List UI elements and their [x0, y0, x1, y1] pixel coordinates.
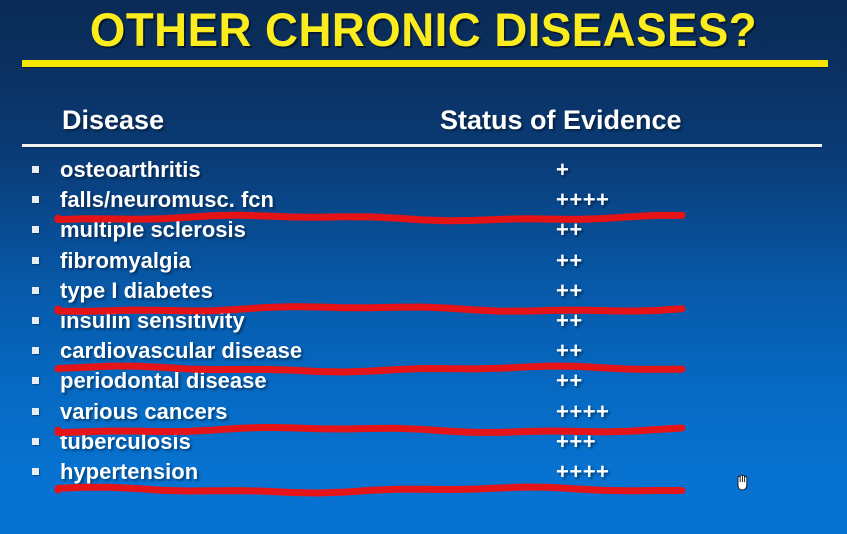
- bullet-square-icon: [32, 468, 39, 475]
- table-header: Disease Status of Evidence: [0, 104, 847, 144]
- disease-name: tuberculosis: [60, 427, 191, 456]
- disease-name: insulin sensitivity: [60, 306, 245, 335]
- evidence-rating: ++++: [556, 457, 609, 486]
- evidence-rating: ++: [556, 215, 583, 244]
- bullet-square-icon: [32, 257, 39, 264]
- bullet-square-icon: [32, 287, 39, 294]
- column-header-disease: Disease: [62, 104, 164, 136]
- disease-name: type I diabetes: [60, 276, 213, 305]
- disease-name: various cancers: [60, 397, 228, 426]
- bullet-square-icon: [32, 226, 39, 233]
- bullet-square-icon: [32, 196, 39, 203]
- header-divider-rule: [22, 144, 822, 147]
- table-row: multiple sclerosis++: [0, 215, 847, 245]
- evidence-rating: ++: [556, 246, 583, 275]
- bullet-square-icon: [32, 347, 39, 354]
- disease-name: cardiovascular disease: [60, 336, 302, 365]
- disease-name: falls/neuromusc. fcn: [60, 185, 274, 214]
- table-row: periodontal disease++: [0, 366, 847, 396]
- evidence-rating: +: [556, 155, 569, 184]
- slide-canvas: OTHER CHRONIC DISEASES? Disease Status o…: [0, 0, 847, 534]
- disease-name: hypertension: [60, 457, 198, 486]
- bullet-square-icon: [32, 408, 39, 415]
- table-row: falls/neuromusc. fcn++++: [0, 185, 847, 215]
- evidence-rating: ++: [556, 336, 583, 365]
- hand-grab-cursor-icon: [731, 470, 755, 494]
- evidence-rating: ++++: [556, 397, 609, 426]
- disease-name: fibromyalgia: [60, 246, 191, 275]
- evidence-rating: ++: [556, 306, 583, 335]
- bullet-square-icon: [32, 438, 39, 445]
- table-row: tuberculosis+++: [0, 427, 847, 457]
- evidence-rating: ++: [556, 366, 583, 395]
- disease-name: multiple sclerosis: [60, 215, 246, 244]
- bullet-square-icon: [32, 317, 39, 324]
- disease-name: periodontal disease: [60, 366, 267, 395]
- table-row: osteoarthritis+: [0, 155, 847, 185]
- bullet-square-icon: [32, 166, 39, 173]
- title-underline-rule: [22, 60, 828, 67]
- table-row: cardiovascular disease++: [0, 336, 847, 366]
- evidence-rating: ++++: [556, 185, 609, 214]
- table-row: type I diabetes++: [0, 276, 847, 306]
- page-title: OTHER CHRONIC DISEASES?: [13, 2, 835, 58]
- evidence-rating: ++: [556, 276, 583, 305]
- disease-name: osteoarthritis: [60, 155, 201, 184]
- table-row: fibromyalgia++: [0, 246, 847, 276]
- table-row: insulin sensitivity++: [0, 306, 847, 336]
- table-row: various cancers++++: [0, 397, 847, 427]
- title-block: OTHER CHRONIC DISEASES?: [0, 0, 847, 72]
- column-header-status: Status of Evidence: [440, 104, 682, 136]
- evidence-rating: +++: [556, 427, 596, 456]
- disease-table-body: osteoarthritis+falls/neuromusc. fcn++++m…: [0, 155, 847, 487]
- bullet-square-icon: [32, 377, 39, 384]
- table-row: hypertension++++: [0, 457, 847, 487]
